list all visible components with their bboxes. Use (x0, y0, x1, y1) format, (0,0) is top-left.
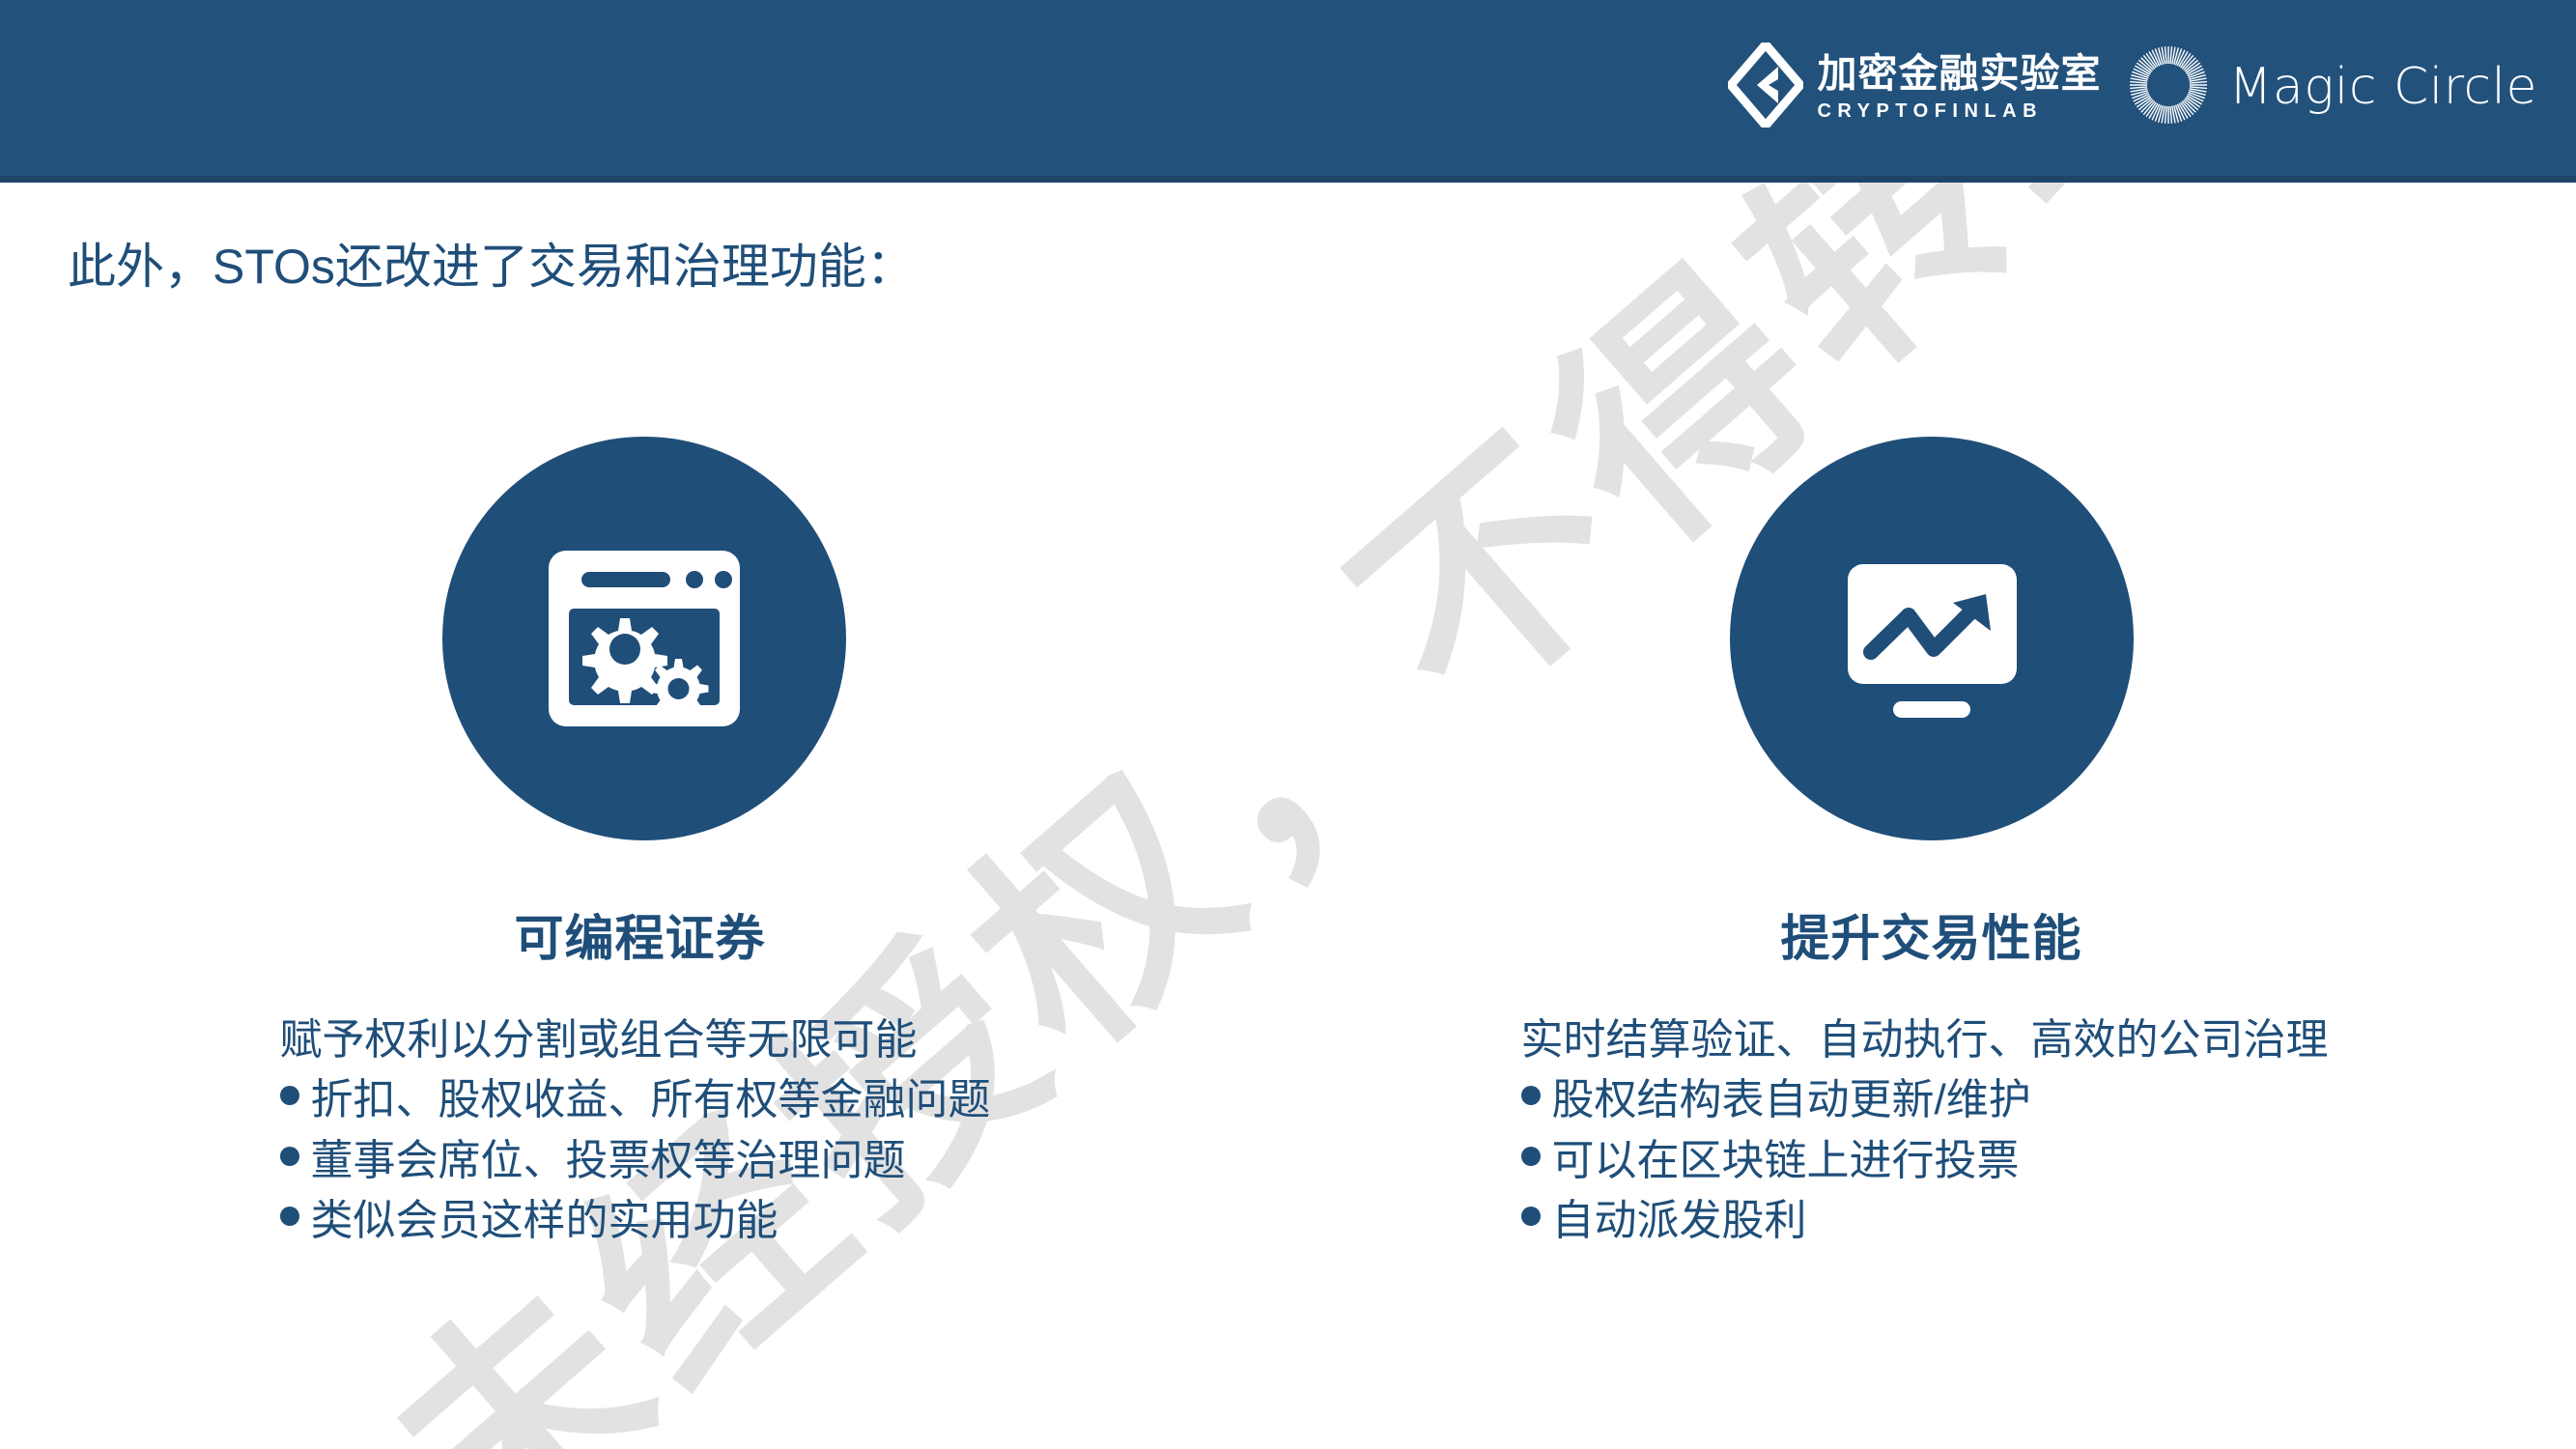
intro-text: 此外，STOs还改进了交易和治理功能： (68, 236, 915, 298)
logo-group: 加密金融实验室 CRYPTOFINLAB Magic Circle (1728, 35, 2537, 139)
bullet-text: 类似会员这样的实用功能 (311, 1191, 778, 1251)
bullet-text: 董事会席位、投票权等治理问题 (311, 1131, 906, 1191)
feature-column-programmable-securities: 可编程证券 赋予权利以分割或组合等无限可能 折扣、股权收益、所有权等金融问题 董… (0, 437, 1288, 1252)
bullet-dot-icon (280, 1207, 299, 1226)
header-underline (0, 176, 2576, 183)
browser-gears-icon (442, 437, 846, 840)
lead-line: 实时结算验证、自动执行、高效的公司治理 (1521, 1010, 2329, 1070)
bullet-dot-icon (280, 1086, 299, 1105)
bullet-dot-icon (1521, 1207, 1541, 1226)
cryptofinlab-wordmark: 加密金融实验室 CRYPTOFINLAB (1817, 54, 2101, 121)
magic-circle-logo: Magic Circle (2122, 33, 2537, 142)
diamond-logo-icon (1728, 43, 1803, 132)
feature-columns: 可编程证券 赋予权利以分割或组合等无限可能 折扣、股权收益、所有权等金融问题 董… (0, 437, 2576, 1252)
feature-column-trading-performance: 提升交易性能 实时结算验证、自动执行、高效的公司治理 股权结构表自动更新/维护 … (1288, 437, 2575, 1252)
bullet-dot-icon (1521, 1147, 1541, 1166)
column-body: 赋予权利以分割或组合等无限可能 折扣、股权收益、所有权等金融问题 董事会席位、投… (280, 1010, 991, 1252)
slide-canvas: 未经授权，不得转载 数字证券发行 (STO) 加密金融实验室 CRYPTOFIN… (0, 0, 2576, 1449)
bullet-item: 董事会席位、投票权等治理问题 (280, 1131, 991, 1191)
bullet-item: 类似会员这样的实用功能 (280, 1191, 991, 1251)
cryptofinlab-cn-name: 加密金融实验室 (1817, 54, 2101, 94)
cryptofinlab-en-name: CRYPTOFINLAB (1817, 101, 2101, 121)
bullet-item: 可以在区块链上进行投票 (1521, 1131, 2329, 1191)
cryptofinlab-logo: 加密金融实验室 CRYPTOFINLAB (1728, 43, 2101, 132)
lead-line: 赋予权利以分割或组合等无限可能 (280, 1010, 991, 1070)
column-heading: 提升交易性能 (1780, 898, 2081, 970)
monitor-growth-chart-icon (1730, 437, 2134, 840)
magic-circle-name: Magic Circle (2228, 58, 2537, 116)
bullet-text: 可以在区块链上进行投票 (1552, 1131, 2020, 1191)
bullet-item: 股权结构表自动更新/维护 (1521, 1070, 2329, 1130)
bullet-item: 自动派发股利 (1521, 1191, 2329, 1251)
bullet-dot-icon (1521, 1086, 1541, 1105)
column-heading: 可编程证券 (514, 898, 765, 970)
column-body: 实时结算验证、自动执行、高效的公司治理 股权结构表自动更新/维护 可以在区块链上… (1521, 1010, 2329, 1252)
bullet-item: 折扣、股权收益、所有权等金融问题 (280, 1070, 991, 1130)
bullet-text: 股权结构表自动更新/维护 (1552, 1070, 2031, 1130)
radial-circle-logo-icon (2122, 33, 2215, 142)
bullet-text: 自动派发股利 (1552, 1191, 1807, 1251)
bullet-text: 折扣、股权收益、所有权等金融问题 (311, 1070, 991, 1130)
bullet-dot-icon (280, 1147, 299, 1166)
